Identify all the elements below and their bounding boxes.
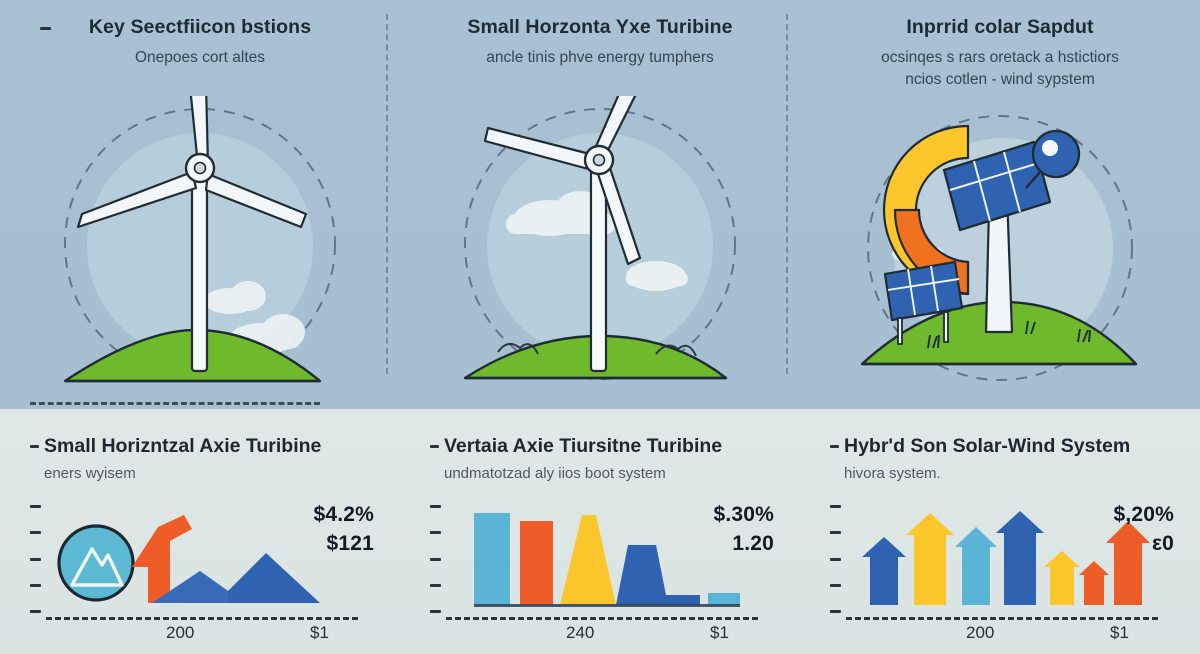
x-axis-end-label: $1 <box>310 623 329 643</box>
value-main: $,20% <box>1113 501 1174 530</box>
chart-baseline <box>46 617 358 620</box>
top-panel-2-subtitle: ancle tinis phve energy tumphers <box>400 47 800 69</box>
chart-baseline <box>446 617 758 620</box>
value-secondary: ε0 <box>1113 530 1174 559</box>
bullet-dash-icon <box>830 445 839 448</box>
top-panel-1-title-text: Key Seectfiicon bstions <box>89 16 311 38</box>
bottom-panel-2-title-text: Vertaia Axie Tiursitne Turibine <box>444 435 722 457</box>
arrow-bar-2 <box>906 513 954 605</box>
bottom-panel-2-values: $.30% 1.20 <box>713 501 774 559</box>
bottom-panel-3-subtitle: hivora system. <box>830 465 1178 482</box>
top-panel-3-title-text: Inprrid colar Sapdut <box>906 16 1093 38</box>
bar-chart-2 <box>452 505 752 615</box>
top-panel-3-title: Inprrid colar Sapdut <box>800 16 1200 39</box>
arrow-bar-1 <box>862 537 906 605</box>
value-secondary: 1.20 <box>713 530 774 559</box>
bottom-panel-2-subtitle: undmatotzad aly iios boot system <box>430 465 778 482</box>
y-axis-ticks <box>30 505 44 613</box>
bottom-panel-3-title: Hybr'd Son Solar-Wind System <box>830 435 1178 458</box>
bottom-panel-1: Small Horizntzal Axie Turibine eners wyi… <box>0 409 400 654</box>
bottom-panel-2: Vertaia Axie Tiursitne Turibine undmatot… <box>400 409 800 654</box>
infographic-canvas: Key Seectfiicon bstions Onepoes cort alt… <box>0 0 1200 654</box>
top-panel-3-subtitle-line1: ocsinqes s rars oretack a hstictiors <box>800 47 1200 69</box>
arrow-bar-6 <box>1079 561 1109 605</box>
x-axis-labels: 200 $1 <box>846 623 1158 647</box>
wind-turbine-illustration-1 <box>40 96 360 396</box>
bottom-panel-1-subtitle: eners wyisem <box>30 465 378 482</box>
chart-baseline <box>846 617 1158 620</box>
bullet-dash-icon <box>40 27 51 30</box>
bar-2 <box>520 521 553 605</box>
bottom-panel-3-title-text: Hybr'd Son Solar-Wind System <box>844 435 1130 457</box>
value-main: $.30% <box>713 501 774 530</box>
bullet-dash-icon <box>30 445 39 448</box>
bottom-panel-3: Hybr'd Son Solar-Wind System hivora syst… <box>800 409 1200 654</box>
top-panel-1-subtitle: Onepoes cort altes <box>0 47 400 69</box>
bar-3-triangle <box>560 515 616 605</box>
mountain-circle-icon <box>59 526 133 600</box>
top-panel-3: Inprrid colar Sapdut ocsinqes s rars ore… <box>800 0 1200 409</box>
wind-turbine-illustration-2 <box>440 96 760 396</box>
top-panel-2: Small Horzonta Yxe Turibine ancle tinis … <box>400 0 800 409</box>
top-panel-3-subtitle: ocsinqes s rars oretack a hstictiors nci… <box>800 47 1200 92</box>
bullet-dash-icon <box>430 445 439 448</box>
bottom-panel-1-title: Small Horizntzal Axie Turibine <box>30 435 378 458</box>
arrow-bar-5 <box>1044 551 1080 605</box>
bottom-panel-2-title: Vertaia Axie Tiursitne Turibine <box>430 435 778 458</box>
x-axis-mid-label: 240 <box>566 623 594 643</box>
top-panel-2-title-text: Small Horzonta Yxe Turibine <box>467 16 732 38</box>
bottom-panel-3-values: $,20% ε0 <box>1113 501 1174 559</box>
bar-5 <box>708 593 740 605</box>
top-panel-3-subtitle-line2: ncios cotlen - wind sypstem <box>800 69 1200 91</box>
top-panel-2-title: Small Horzonta Yxe Turibine <box>400 16 800 39</box>
x-axis-mid-label: 200 <box>966 623 994 643</box>
arrow-bar-chart-3 <box>852 505 1152 615</box>
x-axis-labels: 200 $1 <box>46 623 358 647</box>
x-axis-mid-label: 200 <box>166 623 194 643</box>
x-axis-end-label: $1 <box>1110 623 1129 643</box>
bottom-panel-1-values: $4.2% $121 <box>313 501 374 559</box>
top-section: Key Seectfiicon bstions Onepoes cort alt… <box>0 0 1200 409</box>
bottom-section: Small Horizntzal Axie Turibine eners wyi… <box>0 409 1200 654</box>
y-axis-ticks <box>430 505 444 613</box>
hybrid-solar-wind-illustration <box>840 96 1160 396</box>
x-axis-labels: 240 $1 <box>446 623 758 647</box>
section-divider-dashes <box>30 402 320 405</box>
y-axis-ticks <box>830 505 844 613</box>
top-panel-1: Key Seectfiicon bstions Onepoes cort alt… <box>0 0 400 409</box>
bottom-panel-1-title-text: Small Horizntzal Axie Turibine <box>44 435 321 457</box>
value-secondary: $121 <box>313 530 374 559</box>
x-axis-end-label: $1 <box>710 623 729 643</box>
arrow-bar-4 <box>996 511 1044 605</box>
bar-1 <box>474 513 510 605</box>
arrow-bar-3 <box>955 527 997 605</box>
area-chart-1 <box>52 505 352 615</box>
bar-4-base <box>656 595 700 605</box>
top-panel-1-title: Key Seectfiicon bstions <box>0 16 400 39</box>
value-main: $4.2% <box>313 501 374 530</box>
